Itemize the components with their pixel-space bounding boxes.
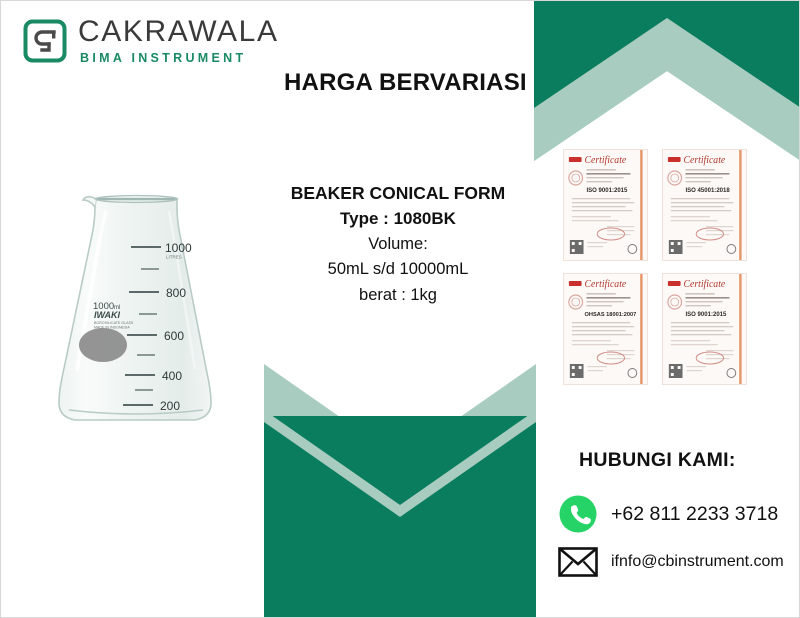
product-image: 1000 LITRES 800 600 400 200 1000 ml IWAK… (49, 177, 229, 439)
contact-heading: HUBUNGI KAMI: (579, 449, 736, 472)
envelope-icon[interactable] (557, 541, 599, 583)
svg-text:LITRES: LITRES (166, 255, 182, 260)
svg-text:1000: 1000 (165, 241, 192, 255)
whatsapp-icon[interactable] (557, 493, 599, 535)
svg-text:400: 400 (162, 369, 182, 383)
svg-text:800: 800 (166, 286, 186, 300)
chevron-bottom-center (264, 364, 536, 618)
certificate-image-4: Certificate ISO 9001:2015 (663, 274, 746, 384)
product-volume-label: Volume: (269, 232, 527, 258)
brand-name: CAKRAWALA (78, 17, 279, 47)
certificate-image-1: Certificate ISO 9001:2015 (564, 150, 647, 260)
certificate-thumbnail: Certificate ISO 9001:2015 (563, 149, 648, 261)
phone-number: +62 811 2233 3718 (611, 503, 778, 526)
svg-text:ISO 9001:2015: ISO 9001:2015 (586, 187, 628, 194)
svg-text:OHSAS 18001:2007: OHSAS 18001:2007 (585, 312, 637, 318)
product-volume-range: 50mL s/d 10000mL (269, 257, 527, 283)
svg-text:200: 200 (160, 399, 180, 413)
svg-text:BOROSILICATE GLASS: BOROSILICATE GLASS (94, 321, 134, 325)
conical-beaker-illustration: 1000 LITRES 800 600 400 200 1000 ml IWAK… (49, 177, 229, 439)
svg-text:IWAKI: IWAKI (94, 310, 120, 320)
chevron-top-right (534, 1, 800, 161)
certificate-thumbnail: Certificate ISO 45001:2018 (662, 149, 747, 261)
product-poster: CAKRAWALA BIMA INSTRUMENT HARGA BERVARIA… (0, 0, 800, 618)
brand-logo: CAKRAWALA BIMA INSTRUMENT (23, 17, 279, 65)
svg-text:Certificate: Certificate (585, 279, 627, 290)
product-weight: berat : 1kg (269, 283, 527, 309)
email-address: ifnfo@cbinstrument.com (611, 553, 784, 571)
cakrawala-logo-mark-icon (23, 19, 67, 63)
certificate-image-3: Certificate OHSAS 18001:2007 (564, 274, 647, 384)
svg-text:Certificate: Certificate (585, 155, 627, 166)
contact-whatsapp[interactable]: +62 811 2233 3718 (557, 493, 778, 535)
poster-headline: HARGA BERVARIASI (284, 69, 527, 97)
brand-logo-text: CAKRAWALA BIMA INSTRUMENT (78, 17, 279, 65)
certificate-gallery: Certificate ISO 9001:2015 (563, 149, 747, 385)
brand-tagline: BIMA INSTRUMENT (78, 52, 279, 65)
svg-text:Certificate: Certificate (684, 279, 726, 290)
certificate-image-2: Certificate ISO 45001:2018 (663, 150, 746, 260)
svg-text:ISO 45001:2018: ISO 45001:2018 (685, 187, 730, 194)
contact-email[interactable]: ifnfo@cbinstrument.com (557, 541, 784, 583)
svg-text:ISO 9001:2015: ISO 9001:2015 (685, 311, 727, 318)
svg-text:Certificate: Certificate (684, 155, 726, 166)
certificate-thumbnail: Certificate OHSAS 18001:2007 (563, 273, 648, 385)
product-name: BEAKER CONICAL FORM (269, 181, 527, 206)
certificate-thumbnail: Certificate ISO 9001:2015 (662, 273, 747, 385)
product-description: BEAKER CONICAL FORM Type : 1080BK Volume… (269, 181, 527, 309)
svg-text:600: 600 (164, 329, 184, 343)
product-type: Type : 1080BK (269, 206, 527, 232)
